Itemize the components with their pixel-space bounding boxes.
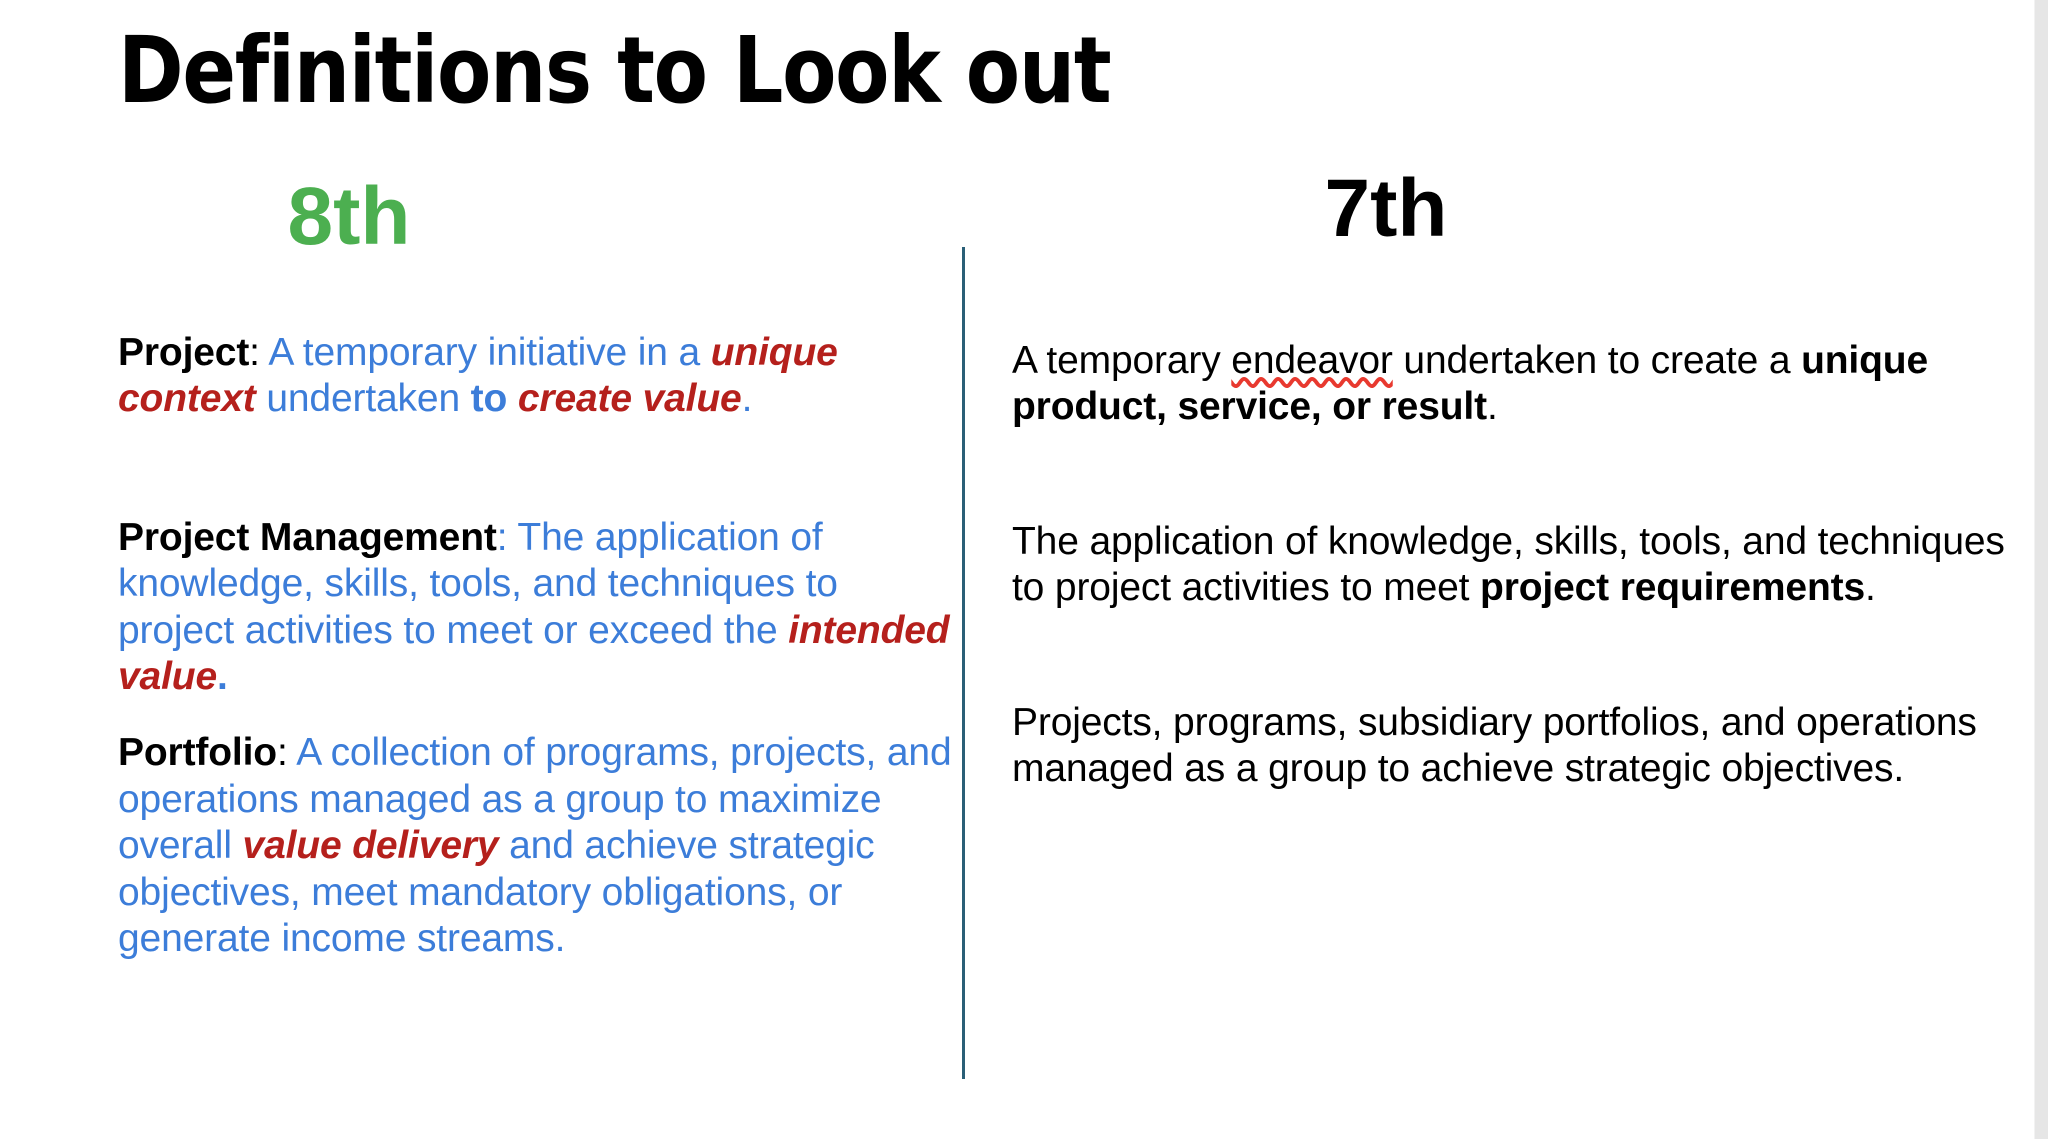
text-run-3: value delivery bbox=[243, 824, 499, 867]
column-header-8th: 8th bbox=[269, 176, 429, 258]
text-run-0: A temporary bbox=[1012, 339, 1231, 382]
definitions-column-8th: Project: A temporary initiative in a uni… bbox=[118, 330, 956, 962]
slide-canvas: Definitions to Look out 8th 7th Project:… bbox=[0, 0, 2048, 1139]
page-edge-strip bbox=[2034, 0, 2048, 1139]
definitions-column-7th: A temporary endeavor undertaken to creat… bbox=[1012, 338, 2012, 792]
column-divider bbox=[962, 247, 965, 1079]
text-run-1: : bbox=[249, 331, 260, 374]
text-run-0: Project Management bbox=[118, 516, 497, 559]
page-title: Definitions to Look out bbox=[118, 22, 1110, 120]
definition-entry-project-management-7th: The application of knowledge, skills, to… bbox=[1012, 519, 2012, 612]
definition-entry-portfolio-7th: Projects, programs, subsidiary portfolio… bbox=[1012, 700, 2012, 793]
text-run-2: A temporary initiative in a bbox=[260, 331, 711, 374]
text-run-0: Projects, programs, subsidiary portfolio… bbox=[1012, 701, 1977, 790]
definition-entry-portfolio-8th: Portfolio: A collection of programs, pro… bbox=[118, 730, 956, 962]
text-run-1: project requirements bbox=[1480, 566, 1865, 609]
definition-entry-project-management-8th: Project Management: The application of k… bbox=[118, 515, 956, 701]
text-run-4: undertaken bbox=[256, 377, 471, 420]
text-run-4: . bbox=[217, 655, 228, 698]
definition-entry-project-8th: Project: A temporary initiative in a uni… bbox=[118, 330, 956, 423]
text-run-1: endeavor bbox=[1231, 339, 1392, 382]
text-run-6: create value bbox=[518, 377, 742, 420]
text-run-4: . bbox=[1487, 385, 1498, 428]
column-header-7th: 7th bbox=[1306, 168, 1466, 250]
text-run-2: . bbox=[1865, 566, 1876, 609]
text-run-5: to bbox=[471, 377, 518, 420]
text-run-0: Portfolio bbox=[118, 731, 277, 774]
text-run-2: undertaken to create a bbox=[1393, 339, 1801, 382]
text-run-0: Project bbox=[118, 331, 249, 374]
text-run-7: . bbox=[742, 377, 753, 420]
text-run-1: : bbox=[497, 516, 508, 559]
definition-entry-project-7th: A temporary endeavor undertaken to creat… bbox=[1012, 338, 2012, 431]
text-run-1: : bbox=[277, 731, 288, 774]
